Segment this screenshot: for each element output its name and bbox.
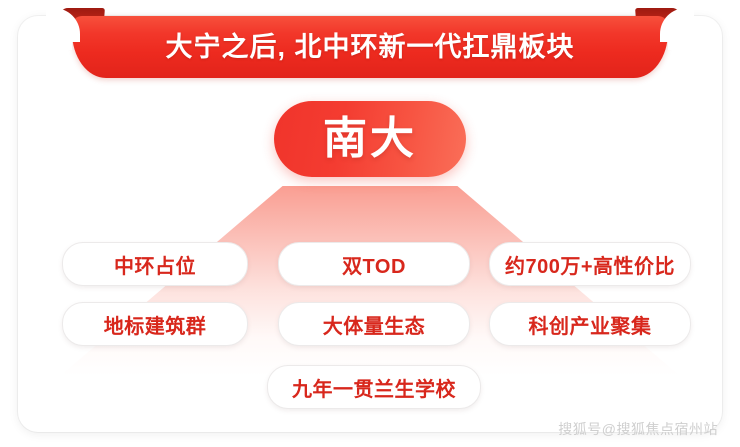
banner-header: 大宁之后, 北中环新一代扛鼎板块 — [0, 0, 740, 92]
feature-pill: 中环占位 — [62, 242, 248, 286]
feature-pill: 双TOD — [278, 242, 470, 286]
feature-pill-label: 大体量生态 — [323, 310, 426, 339]
center-badge: 南大 — [274, 101, 466, 177]
infographic-canvas: 大宁之后, 北中环新一代扛鼎板块 南大 中环占位 双TOD 约700万+高性价比… — [0, 0, 740, 447]
feature-pill: 九年一贯兰生学校 — [267, 365, 481, 409]
feature-pill-label: 双TOD — [342, 250, 406, 279]
feature-pill-label: 地标建筑群 — [104, 310, 207, 339]
feature-pill-label: 科创产业聚集 — [529, 310, 652, 339]
watermark-text: 搜狐号@搜狐焦点宿州站 — [558, 419, 718, 439]
feature-pill-label: 中环占位 — [114, 250, 196, 279]
feature-pill: 约700万+高性价比 — [489, 242, 691, 286]
feature-pill: 科创产业聚集 — [489, 302, 691, 346]
feature-pill-label: 约700万+高性价比 — [505, 250, 675, 279]
banner-title: 大宁之后, 北中环新一代扛鼎板块 — [72, 16, 668, 72]
center-badge-label: 南大 — [323, 117, 417, 161]
feature-pill-label: 九年一贯兰生学校 — [292, 373, 456, 402]
feature-pill: 大体量生态 — [278, 302, 470, 346]
feature-pill: 地标建筑群 — [62, 302, 248, 346]
